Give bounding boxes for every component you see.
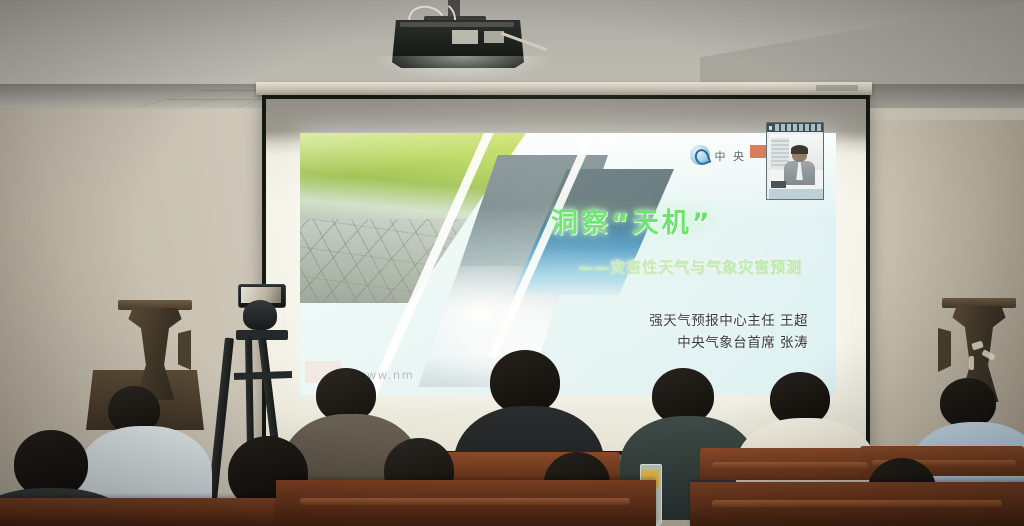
bench-rail [300, 498, 630, 505]
presenter-line-1: 强天气预报中心主任 王超 [649, 310, 808, 332]
presentation-slide: 中 央 洞察“天机” ——灾害性天气与气象灾害预测 强天气预报中心主任 王超 中… [300, 133, 836, 395]
pip-icon [769, 126, 772, 130]
pip-name-tag [771, 181, 786, 188]
screen-roller-housing [256, 82, 872, 95]
conference-room-photo: 中 央 洞察“天机” ——灾害性天气与气象灾害预测 强天气预报中心主任 王超 中… [0, 0, 1024, 526]
pip-title-label [775, 124, 821, 131]
slide-title: 洞察“天机” [551, 201, 713, 240]
vase-ornament [969, 356, 974, 370]
projector-highlight [400, 22, 514, 27]
head [490, 350, 560, 414]
presenter-line-2: 中央气象台首席 张涛 [649, 332, 808, 354]
slide-presenters: 强天气预报中心主任 王超 中央气象台首席 张涛 [649, 310, 808, 355]
head [940, 378, 996, 428]
pip-video-feed [769, 134, 823, 199]
bench-rail [712, 500, 1002, 507]
video-conference-window[interactable] [766, 122, 824, 200]
pip-speaker-hair [791, 145, 808, 154]
tripod-head [243, 300, 277, 330]
housing-badge [816, 85, 858, 91]
cma-logo-icon [690, 145, 710, 165]
cma-logo-text: 中 央 [715, 148, 747, 164]
bench-front-left [0, 498, 300, 526]
pip-title-bar [767, 123, 823, 132]
pip-desk [769, 189, 823, 199]
vase-handle [938, 328, 951, 372]
projector-light-glow [368, 56, 558, 82]
slide-subtitle: ——灾害性天气与气象灾害预测 [578, 256, 802, 277]
bench-rail [712, 462, 868, 469]
projector-label-sticker [452, 30, 478, 44]
vase-handle [178, 330, 191, 370]
